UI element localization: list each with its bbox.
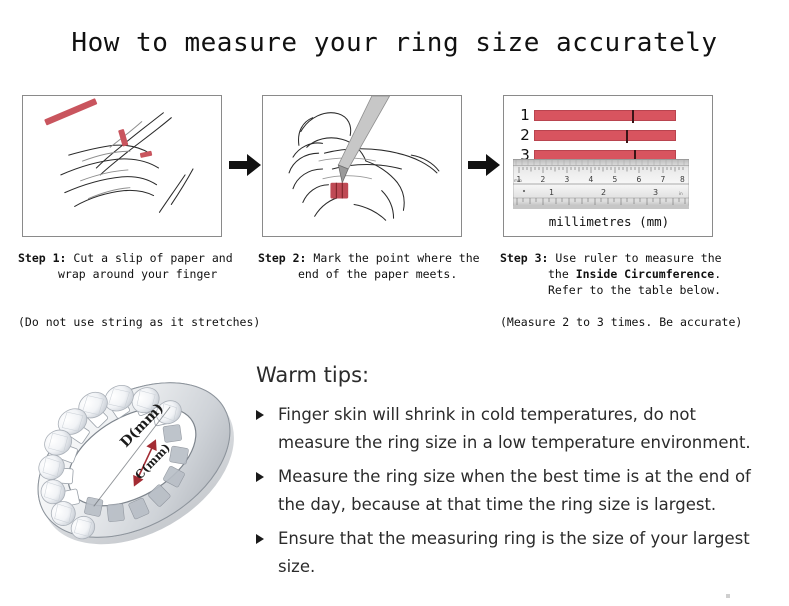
warm-tips-heading: Warm tips: (256, 363, 766, 387)
ruler-unit-caption: millimetres (mm) (504, 214, 713, 229)
svg-text:2: 2 (541, 175, 546, 184)
step-3-line2-prefix: the (548, 267, 576, 281)
step-3-note: (Measure 2 to 3 times. Be accurate) (500, 315, 742, 329)
measure-bar-1 (534, 110, 676, 121)
measure-bar-row-1: 1 (516, 106, 676, 124)
warm-tip-text-3: Ensure that the measuring ring is the si… (278, 529, 750, 576)
ruler-icon: 1 2 3 4 5 6 7 8 mm 1 2 3 in (513, 159, 689, 209)
hand-paper-drawing (23, 96, 221, 236)
triangle-bullet-icon (256, 472, 264, 482)
svg-text:mm: mm (514, 178, 522, 183)
step-1-caption: Step 1: Cut a slip of paper and wrap aro… (18, 250, 248, 282)
page-title: How to measure your ring size accurately (0, 28, 789, 58)
warm-tip-item-3: Ensure that the measuring ring is the si… (256, 525, 766, 581)
image-artifact-speck (726, 594, 730, 598)
step-1-illustration (22, 95, 222, 237)
inside-circumference-emphasis: Inside Circumference (576, 267, 714, 281)
step-3-caption: Step 3: Use ruler to measure the the Ins… (500, 250, 740, 298)
hand-marking-drawing (263, 96, 461, 236)
paper-band-icon (330, 183, 348, 199)
measure-bar-number-2: 2 (516, 126, 534, 144)
step-3-illustration: 1 2 3 (503, 95, 713, 237)
svg-text:5: 5 (613, 175, 618, 184)
svg-text:in: in (679, 191, 683, 196)
arrow-right-icon-1 (227, 152, 263, 178)
measure-bar-tick-1 (632, 110, 634, 123)
step-2-caption: Step 2: Mark the point where the end of … (258, 250, 488, 282)
warm-tips-list: Finger skin will shrink in cold temperat… (256, 401, 766, 581)
svg-text:4: 4 (589, 175, 594, 184)
triangle-bullet-icon (256, 410, 264, 420)
step-3-line2: the Inside Circumference. (500, 266, 740, 282)
measure-bar-number-1: 1 (516, 106, 534, 124)
step-1-line1: Cut a slip of paper and (73, 251, 232, 265)
measure-bar-tick-2 (626, 130, 628, 143)
svg-text:7: 7 (661, 175, 666, 184)
step-2-label: Step 2: (258, 251, 306, 265)
step-1-note: (Do not use string as it stretches) (18, 315, 260, 329)
warm-tips-section: Warm tips: Finger skin will shrink in co… (256, 363, 766, 587)
measure-bar-row-2: 2 (516, 126, 676, 144)
step-3-line2-suffix: . (714, 267, 721, 281)
warm-tip-text-2: Measure the ring size when the best time… (278, 467, 751, 514)
svg-text:2: 2 (601, 188, 606, 197)
eternity-ring-illustration: D(mm) C(mm) (22, 352, 247, 567)
svg-text:3: 3 (565, 175, 570, 184)
step-3-line3: Refer to the table below. (500, 282, 740, 298)
measure-bar-2 (534, 130, 676, 141)
svg-text:3: 3 (653, 188, 658, 197)
ring-size-guide: How to measure your ring size accurately (0, 0, 789, 606)
step-2-line1: Mark the point where the (313, 251, 479, 265)
warm-tip-text-1: Finger skin will shrink in cold temperat… (278, 405, 751, 452)
pen-icon (338, 96, 389, 183)
warm-tip-item-1: Finger skin will shrink in cold temperat… (256, 401, 766, 457)
ring-diagram: D(mm) C(mm) (22, 352, 247, 567)
step-3-label: Step 3: (500, 251, 548, 265)
step-2-line2: end of the paper meets. (258, 266, 488, 282)
arrow-right-icon-2 (466, 152, 502, 178)
step-1-line2: wrap around your finger (18, 266, 248, 282)
step-2-illustration (262, 95, 462, 237)
triangle-bullet-icon (256, 534, 264, 544)
paper-slip-icon (44, 98, 152, 158)
warm-tip-item-2: Measure the ring size when the best time… (256, 463, 766, 519)
steps-row: 1 2 3 (0, 95, 789, 340)
svg-text:8: 8 (680, 175, 685, 184)
step-3-line1: Use ruler to measure the (555, 251, 721, 265)
svg-text:1: 1 (549, 188, 554, 197)
step-1-label: Step 1: (18, 251, 66, 265)
svg-text:6: 6 (637, 175, 642, 184)
